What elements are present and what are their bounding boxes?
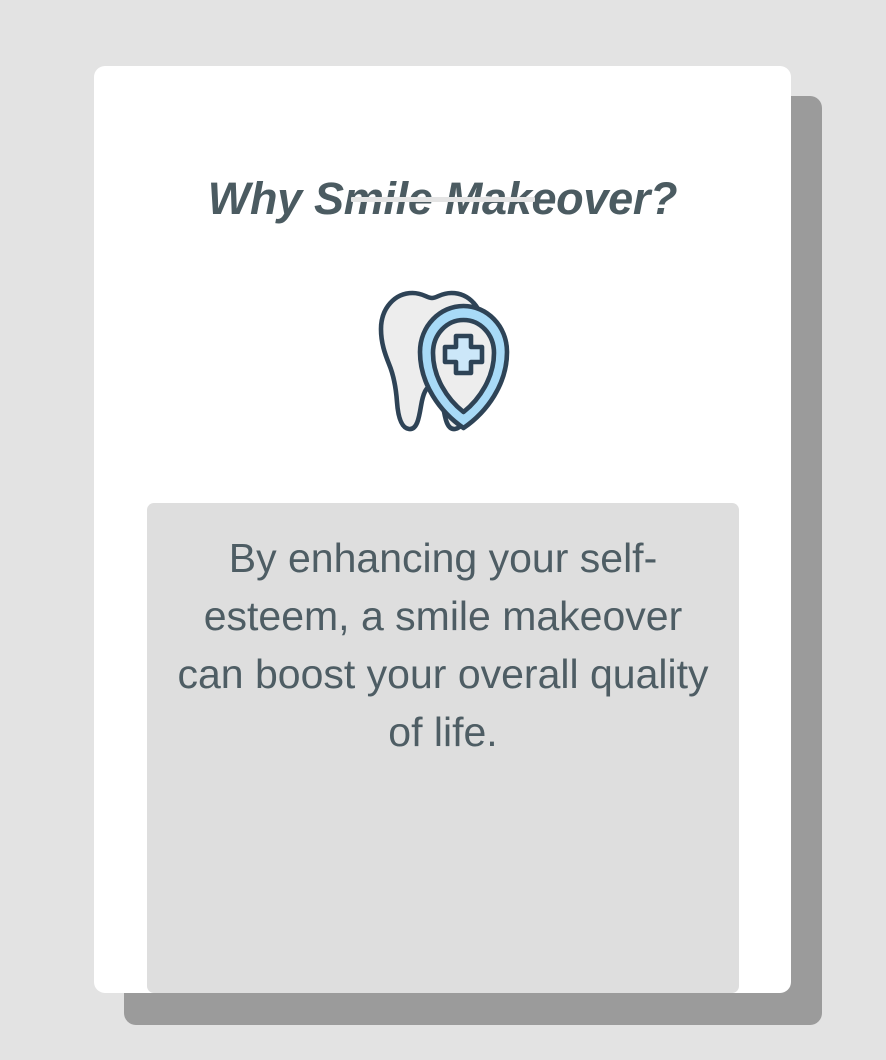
slide-canvas: Why Smile Makeover? By enhancing your se…: [0, 0, 886, 1060]
description-text: By enhancing your self-esteem, a smile m…: [177, 529, 709, 761]
tooth-shield-icon: [365, 280, 529, 446]
title-divider: [351, 197, 535, 202]
info-card: Why Smile Makeover? By enhancing your se…: [94, 66, 791, 993]
description-panel: By enhancing your self-esteem, a smile m…: [147, 503, 739, 993]
